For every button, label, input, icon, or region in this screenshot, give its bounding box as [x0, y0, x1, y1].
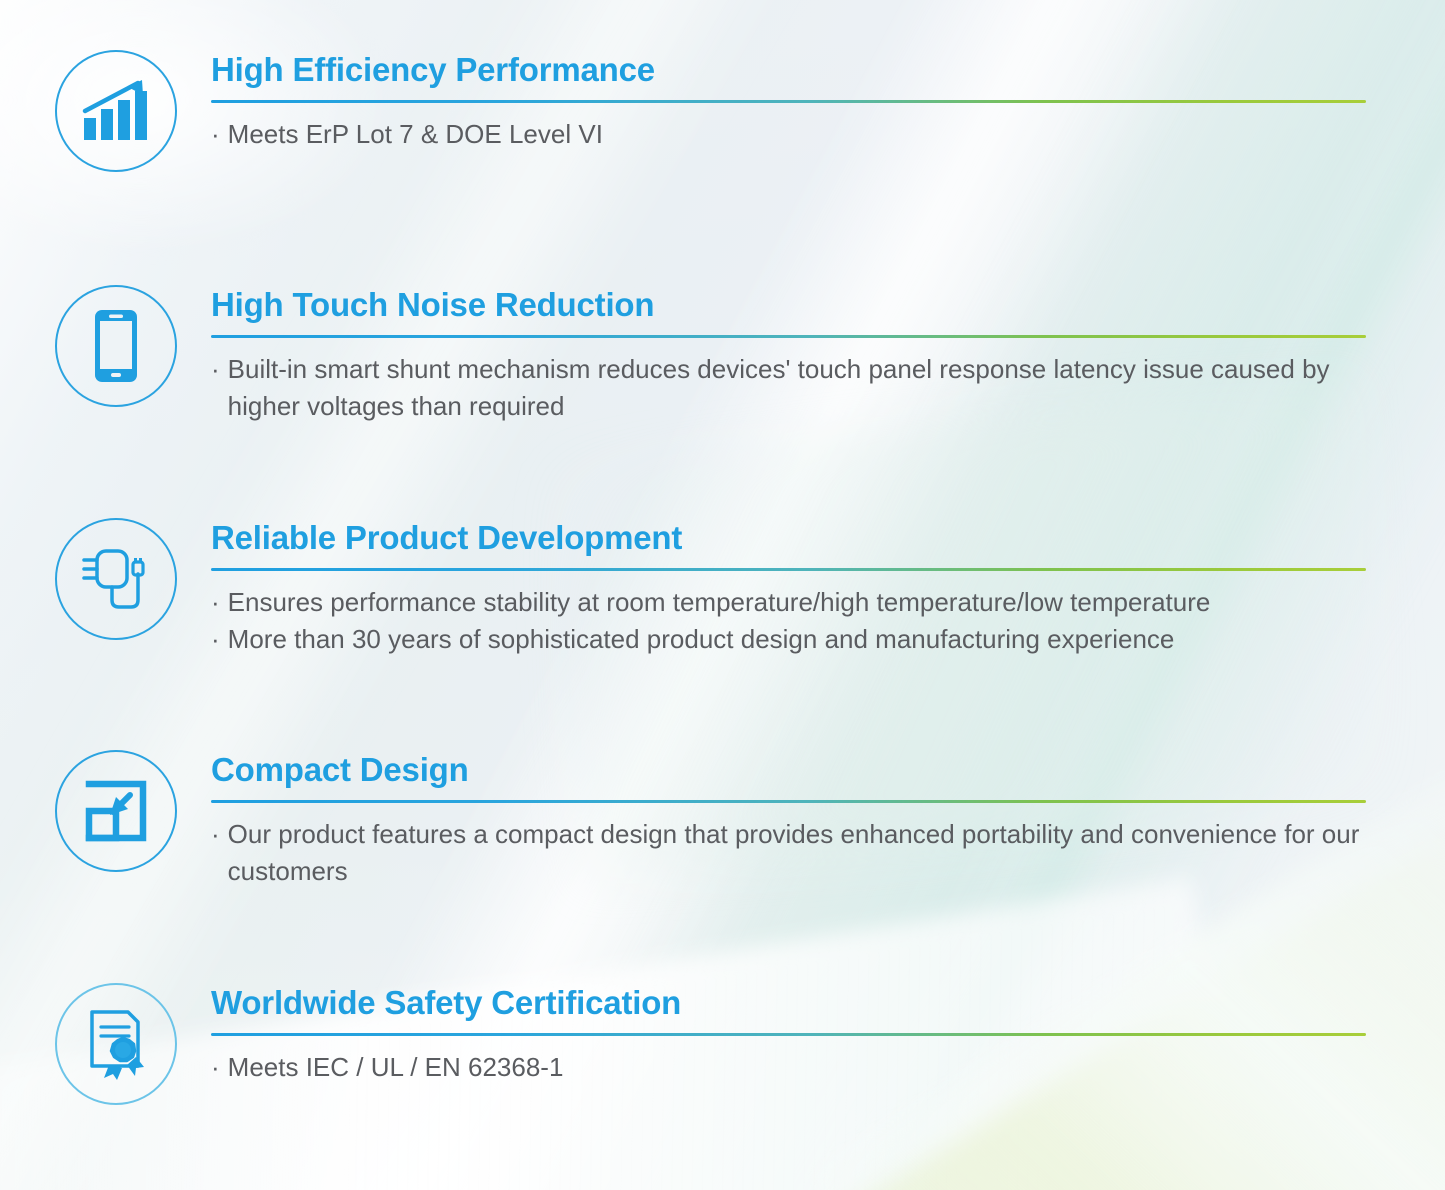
feature-icon-wrapper: [55, 518, 177, 640]
feature-title: Reliable Product Development: [211, 518, 1371, 558]
feature-body: High Efficiency Performance · Meets ErP …: [211, 50, 1371, 153]
feature-divider: [211, 568, 1366, 571]
bullet-text: More than 30 years of sophisticated prod…: [228, 621, 1371, 658]
bullet-text: Meets ErP Lot 7 & DOE Level VI: [228, 116, 1371, 153]
icon-circle-border: [55, 50, 177, 172]
icon-circle-border: [55, 285, 177, 407]
feature-title: Worldwide Safety Certification: [211, 983, 1371, 1023]
bullet-marker: ·: [211, 116, 220, 153]
feature-body: High Touch Noise Reduction · Built-in sm…: [211, 285, 1371, 425]
bullet-text: Meets IEC / UL / EN 62368-1: [228, 1049, 1371, 1086]
bullet-item: · Ensures performance stability at room …: [211, 584, 1371, 621]
bullet-marker: ·: [211, 621, 220, 658]
feature-bullets: · Built-in smart shunt mechanism reduces…: [211, 351, 1371, 425]
power-adapter-icon: [78, 544, 154, 614]
bullet-marker: ·: [211, 351, 220, 388]
compact-resize-icon: [83, 778, 149, 844]
bullet-item: · Meets IEC / UL / EN 62368-1: [211, 1049, 1371, 1086]
bullet-item: · Meets ErP Lot 7 & DOE Level VI: [211, 116, 1371, 153]
feature-title: Compact Design: [211, 750, 1371, 790]
icon-circle-border: [55, 518, 177, 640]
certificate-seal-icon: [82, 1008, 150, 1080]
feature-body: Compact Design · Our product features a …: [211, 750, 1371, 890]
feature-highlights-page: High Efficiency Performance · Meets ErP …: [0, 0, 1445, 1190]
feature-body: Worldwide Safety Certification · Meets I…: [211, 983, 1371, 1086]
feature-icon-wrapper: [55, 983, 177, 1105]
bullet-marker: ·: [211, 1049, 220, 1086]
bullet-marker: ·: [211, 584, 220, 621]
feature-divider: [211, 335, 1366, 338]
feature-bullets: · Ensures performance stability at room …: [211, 584, 1371, 658]
feature-icon-wrapper: [55, 285, 177, 407]
feature-bullets: · Meets IEC / UL / EN 62368-1: [211, 1049, 1371, 1086]
smartphone-icon: [93, 308, 139, 384]
bullet-text: Built-in smart shunt mechanism reduces d…: [228, 351, 1371, 425]
bullet-item: · Built-in smart shunt mechanism reduces…: [211, 351, 1371, 425]
feature-divider: [211, 800, 1366, 803]
bullet-text: Ensures performance stability at room te…: [228, 584, 1371, 621]
feature-icon-wrapper: [55, 50, 177, 172]
feature-divider: [211, 1033, 1366, 1036]
feature-bullets: · Our product features a compact design …: [211, 816, 1371, 890]
bullet-item: · More than 30 years of sophisticated pr…: [211, 621, 1371, 658]
feature-icon-wrapper: [55, 750, 177, 872]
icon-circle-border: [55, 750, 177, 872]
feature-bullets: · Meets ErP Lot 7 & DOE Level VI: [211, 116, 1371, 153]
feature-title: High Efficiency Performance: [211, 50, 1371, 90]
feature-body: Reliable Product Development · Ensures p…: [211, 518, 1371, 658]
bullet-item: · Our product features a compact design …: [211, 816, 1371, 890]
bullet-marker: ·: [211, 816, 220, 853]
feature-title: High Touch Noise Reduction: [211, 285, 1371, 325]
icon-circle-border: [55, 983, 177, 1105]
bar-chart-growth-icon: [80, 78, 152, 144]
bullet-text: Our product features a compact design th…: [228, 816, 1371, 890]
feature-divider: [211, 100, 1366, 103]
